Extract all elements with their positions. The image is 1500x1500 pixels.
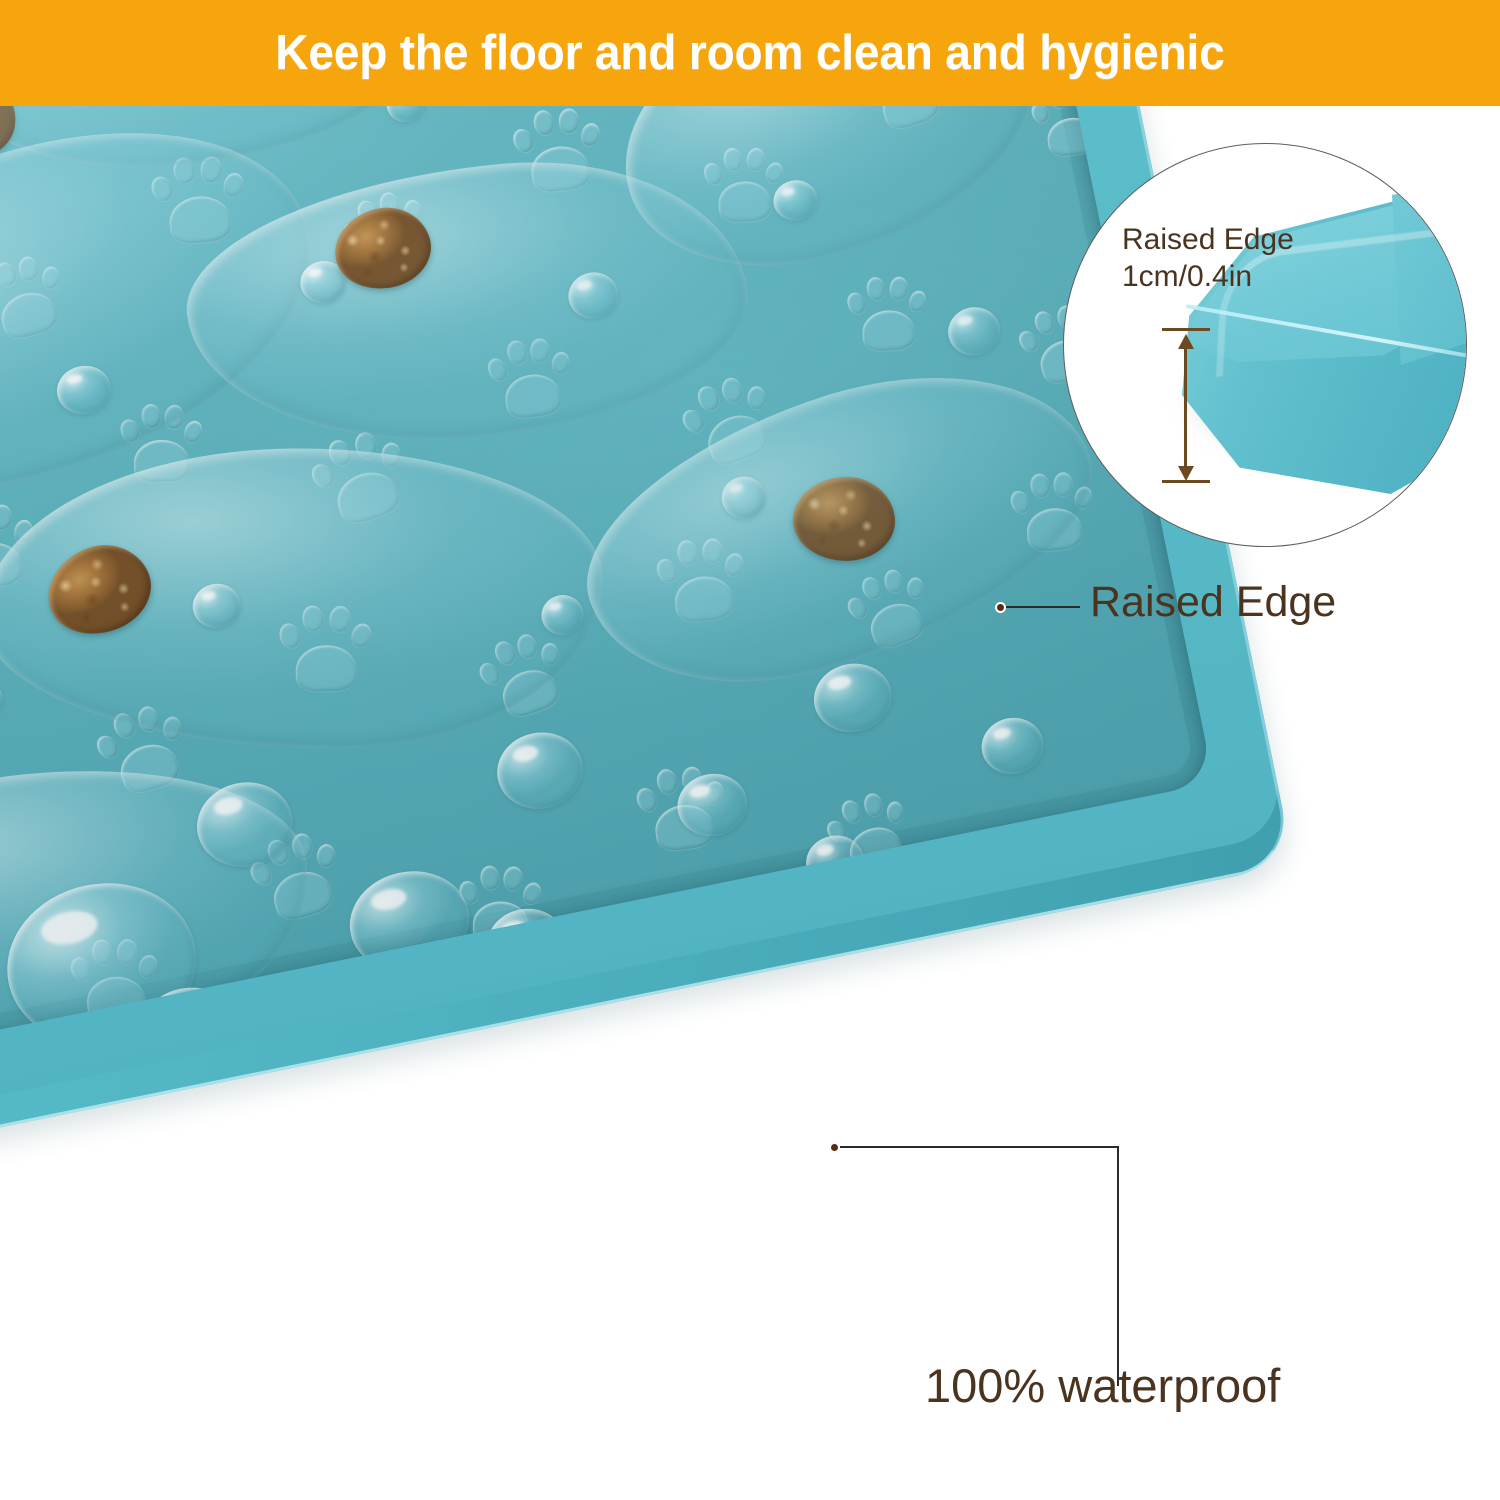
dimension-arrow-down-icon	[1178, 466, 1194, 481]
water-droplet	[383, 104, 427, 126]
paw-print-emboss	[841, 272, 933, 364]
raised-edge-detail-inset: Raised Edge 1cm/0.4in	[1063, 143, 1467, 547]
raised-edge-leader-line	[1006, 606, 1080, 608]
dimension-line	[1184, 340, 1187, 472]
waterproof-leader-line-vertical	[1117, 1146, 1119, 1386]
dimension-cap-top	[1162, 328, 1210, 331]
dimension-cap-bottom	[1162, 480, 1210, 483]
headline-text: Keep the floor and room clean and hygien…	[275, 25, 1224, 81]
inset-caption-text: Raised Edge 1cm/0.4in	[1122, 222, 1294, 295]
raised-edge-callout-label: Raised Edge	[1090, 578, 1336, 627]
waterproof-callout-dot	[829, 1142, 840, 1153]
tray-corner-closeup	[1182, 164, 1467, 524]
waterproof-leader-line-horizontal	[840, 1146, 1118, 1148]
kibble-piece	[790, 474, 897, 564]
raised-edge-callout-dot	[995, 602, 1006, 613]
water-droplet	[490, 725, 589, 817]
water-droplet	[0, 679, 6, 719]
water-droplet	[977, 712, 1049, 779]
water-droplet	[944, 303, 1005, 360]
headline-banner: Keep the floor and room clean and hygien…	[0, 0, 1500, 106]
waterproof-callout-label: 100% waterproof	[925, 1358, 1280, 1413]
product-image-canvas: Keep the floor and room clean and hygien…	[0, 0, 1500, 1500]
